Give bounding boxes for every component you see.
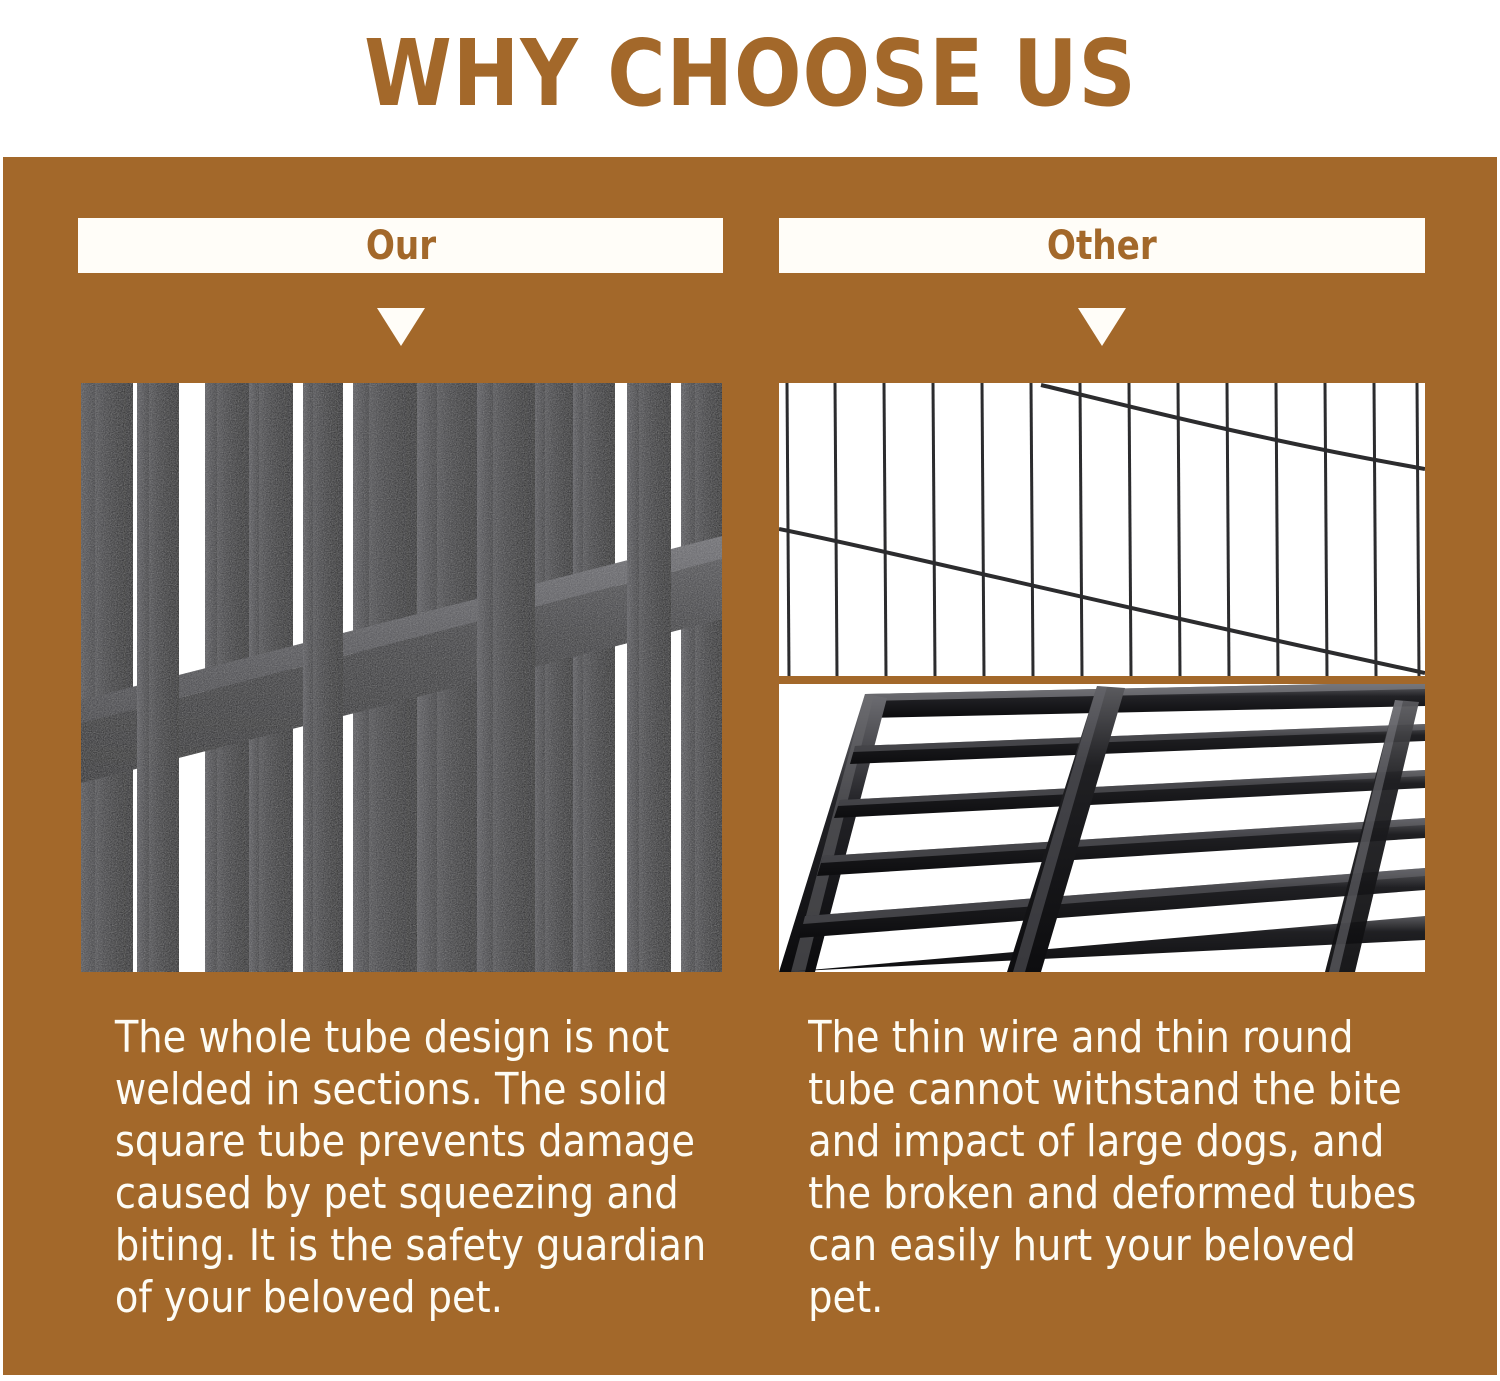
caption-our: The whole tube design is not welded in s… <box>78 1012 741 1324</box>
caption-other: The thin wire and thin round tube cannot… <box>779 1012 1439 1324</box>
square-tube-fence-photo <box>81 383 722 972</box>
page-title-bar: WHY CHOOSE US <box>0 0 1500 157</box>
column-our: Our <box>78 157 723 1375</box>
triangle-down-icon-other <box>1078 308 1126 346</box>
page-title: WHY CHOOSE US <box>364 28 1137 120</box>
comparison-panel: Our <box>3 157 1497 1375</box>
header-label-our: Our <box>365 226 435 266</box>
triangle-down-icon-our <box>377 308 425 346</box>
column-other: Other <box>779 157 1425 1375</box>
header-label-other: Other <box>1047 226 1157 266</box>
thin-round-tube-panel-photo <box>779 684 1425 972</box>
header-bar-other: Other <box>779 218 1425 273</box>
header-bar-our: Our <box>78 218 723 273</box>
thin-wire-mesh-photo <box>779 383 1425 676</box>
